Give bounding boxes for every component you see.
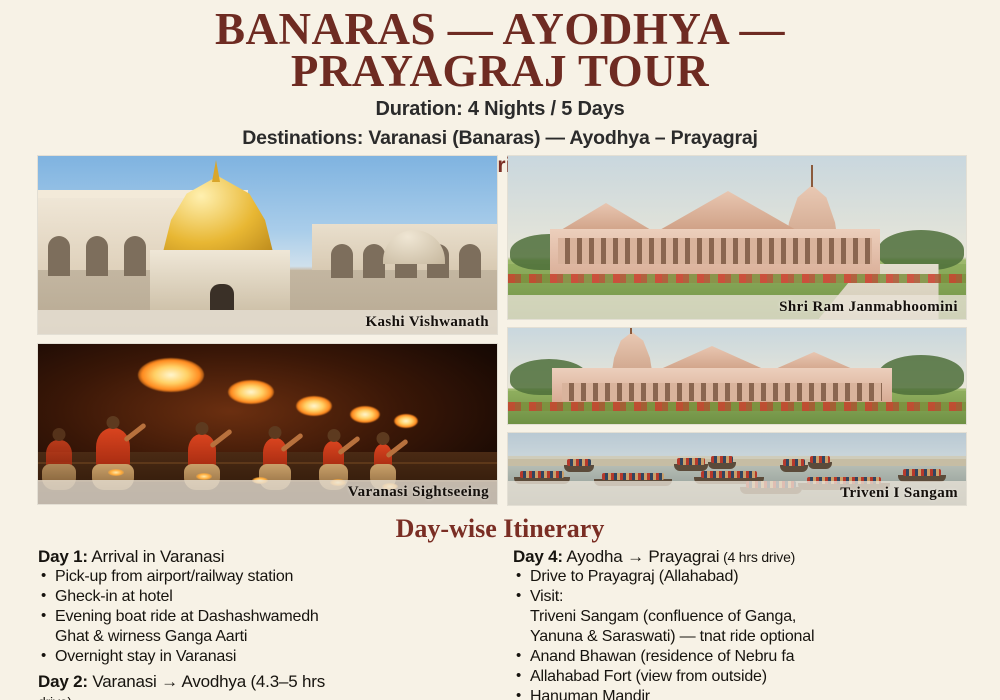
photo-column-left: Kashi Vishwanath — [38, 156, 497, 504]
duration-text: Duration: 4 Nights / 5 Days — [0, 98, 1000, 121]
photo-triveni-sangam: Triveni I Sangam — [508, 433, 966, 505]
itinerary-item: Triveni Sangam (confluence of Ganga, — [513, 607, 983, 627]
day-label: Day 1: — [38, 547, 88, 566]
itinerary-item: Overnight stay in Varanasi — [38, 647, 490, 667]
destinations-text: Destinations: Varanasi (Banaras) — Ayodh… — [0, 127, 1000, 150]
day-note: drive) — [38, 694, 72, 700]
photo-grid: Kashi Vishwanath — [0, 156, 1000, 514]
title-line-2: PRAYAGRAJ TOUR — [60, 50, 940, 92]
itinerary-item: Ghat & wirness Ganga Aarti — [38, 627, 490, 647]
photo-caption: Kashi Vishwanath — [365, 314, 489, 331]
itinerary-column-right: Day 4: Ayodha → Prayagrai (4 hrs drive)D… — [513, 542, 983, 700]
day-label: Day 2: — [38, 672, 88, 691]
itinerary-item: Evening boat ride at Dashashwamedh — [38, 607, 490, 627]
day-title: Varanasi → Avodhya (4.3–5 hrs — [88, 672, 325, 691]
photo-kashi-vishwanath: Kashi Vishwanath — [38, 156, 497, 334]
photo-caption: Shri Ram Janmabhoomini — [779, 299, 958, 316]
day-heading: Day 2: Varanasi → Avodhya (4.3–5 hrsdriv… — [38, 672, 490, 700]
day-label: Day 4: — [513, 547, 563, 566]
photo-caption: Varanasi Sightseeing — [348, 484, 489, 501]
itinerary-item: Hanuman Mandir — [513, 687, 983, 700]
itinerary-item: Allahabad Fort (view from outside) — [513, 667, 983, 687]
day-title: Ayodha → Prayagrai — [563, 547, 720, 566]
itinerary-item: Yanuna & Saraswati) — tnat ride optional — [513, 627, 983, 647]
day-note: (4 hrs drive) — [719, 549, 795, 565]
title-line-1: BANARAS — AYODHYA — — [60, 8, 940, 50]
itinerary-columns: Day 1: Arrival in VaranasiPick-up from a… — [0, 542, 1000, 700]
itinerary-item: Visit: — [513, 587, 983, 607]
photo-varanasi-sightseeing: Varanasi Sightseeing — [38, 344, 497, 504]
day-title: Arrival in Varanasi — [88, 547, 224, 566]
itinerary-item: Drive to Prayagraj (Allahabad) — [513, 567, 983, 587]
itinerary-item: Pick-up from airport/railway station — [38, 567, 490, 587]
day-item-list: Drive to Prayagraj (Allahabad)Visit:Triv… — [513, 567, 983, 700]
page-title: BANARAS — AYODHYA — PRAYAGRAJ TOUR — [60, 8, 940, 92]
brochure-page: BANARAS — AYODHYA — PRAYAGRAJ TOUR Durat… — [0, 0, 1000, 700]
day-heading: Day 4: Ayodha → Prayagrai (4 hrs drive) — [513, 547, 983, 567]
itinerary-column-left: Day 1: Arrival in VaranasiPick-up from a… — [38, 542, 490, 700]
brochure-header: BANARAS — AYODHYA — PRAYAGRAJ TOUR Durat… — [0, 0, 1000, 178]
itinerary-item: Anand Bhawan (residence of Nebru fa — [513, 647, 983, 667]
day-heading: Day 1: Arrival in Varanasi — [38, 547, 490, 567]
photo-column-right: Shri Ram Janmabhoomini — [508, 156, 966, 505]
photo-caption: Triveni I Sangam — [840, 485, 958, 502]
photo-ram-janmabhoomi: Shri Ram Janmabhoomini — [508, 156, 966, 319]
itinerary-item: Gheck-in at hotel — [38, 587, 490, 607]
day-item-list: Pick-up from airport/railway stationGhec… — [38, 567, 490, 667]
photo-ram-mandir-wide — [508, 328, 966, 424]
itinerary-heading: Day-wise Itinerary — [0, 514, 1000, 544]
